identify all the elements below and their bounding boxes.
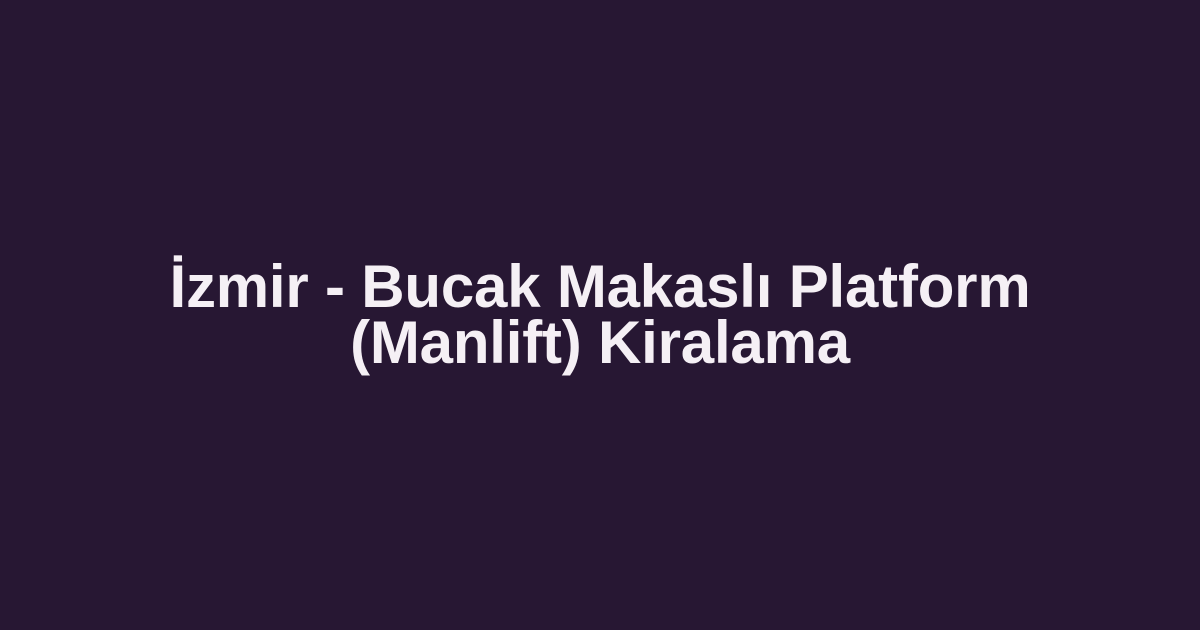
title-block: İzmir - Bucak Makaslı Platform (Manlift)…: [0, 259, 1200, 371]
page-title: İzmir - Bucak Makaslı Platform (Manlift)…: [40, 259, 1160, 371]
og-preview-card: İzmir - Bucak Makaslı Platform (Manlift)…: [0, 0, 1200, 630]
